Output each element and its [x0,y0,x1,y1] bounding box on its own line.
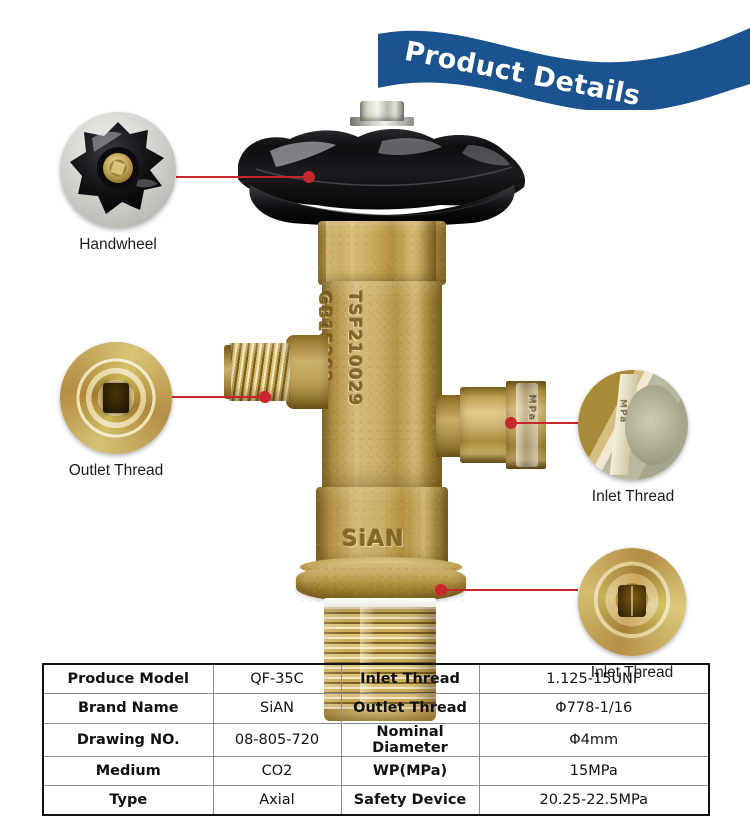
spec-value-medium: CO2 [213,756,341,786]
inlet-fitting-pressure-mark: MPa [520,395,536,455]
outlet-thread-stem [228,343,290,401]
spec-key-medium: Medium [43,756,213,786]
leader-line-inlet-thread-top [510,422,578,424]
spec-value-nominal-diameter: Φ4mm [479,723,709,756]
table-row: Produce Model QF-35C Inlet Thread 1.125-… [43,664,709,694]
spec-value-safety-device: 20.25-22.5MPa [479,786,709,816]
table-row: Medium CO2 WP(MPa) 15MPa [43,756,709,786]
table-row: Drawing NO. 08-805-720 Nominal Diameter … [43,723,709,756]
spec-value-produce-model: QF-35C [213,664,341,694]
leader-line-inlet-thread-bottom [440,589,578,591]
callout-outlet-thread: Outlet Thread [60,342,172,480]
spec-value-wp-mpa: 15MPa [479,756,709,786]
spec-key-wp-mpa: WP(MPa) [341,756,479,786]
spec-value-brand-name: SiAN [213,694,341,724]
outlet-thread-photo-icon [60,342,172,454]
callout-inlet-thread-bottom: Inlet Thread [578,548,686,682]
emboss-brand-logo: SiAN [342,527,405,552]
spec-key-produce-model: Produce Model [43,664,213,694]
leader-line-outlet-thread [172,396,264,398]
leader-dot-handwheel [303,171,315,183]
leader-dot-inlet-thread-top [505,417,517,429]
spec-value-drawing-no: 08-805-720 [213,723,341,756]
spec-value-type: Axial [213,786,341,816]
handwheel-top-view-shape [66,118,170,222]
spec-key-safety-device: Safety Device [341,786,479,816]
spec-key-type: Type [43,786,213,816]
table-row: Type Axial Safety Device 20.25-22.5MPa [43,786,709,816]
callout-handwheel: Handwheel [60,112,176,254]
spec-key-nominal-diameter: Nominal Diameter [341,723,479,756]
leader-dot-inlet-thread-bottom [435,584,447,596]
inlet-thread-hex-photo-icon: MPa [578,370,688,480]
spec-value-inlet-thread: 1.125-15UNF [479,664,709,694]
callout-inlet-thread-top: MPa Inlet Thread [578,370,688,506]
spec-key-drawing-no: Drawing NO. [43,723,213,756]
spec-key-inlet-thread: Inlet Thread [341,664,479,694]
valve-body-main [322,281,442,491]
spec-key-outlet-thread: Outlet Thread [341,694,479,724]
callout-label-outlet-thread: Outlet Thread [60,462,172,480]
inlet-photo-pressure-mark: MPa [618,399,628,423]
base-flange-collar [296,563,466,603]
specification-table: Produce Model QF-35C Inlet Thread 1.125-… [42,663,710,816]
table-row: Brand Name SiAN Outlet Thread Φ778-1/16 [43,694,709,724]
callout-label-handwheel: Handwheel [60,236,176,254]
emboss-serial-code: TSF210029 [344,291,364,406]
product-photo-composite: GB15382 TSF210029 MPa SiAN [200,95,550,665]
outlet-branch-neck [286,335,328,409]
spec-key-brand-name: Brand Name [43,694,213,724]
inlet-thread-flange-photo-icon [578,548,686,656]
valve-hex-nut [318,221,446,285]
inlet-hex-nut-inner [460,387,512,463]
leader-line-handwheel [176,176,308,178]
leader-dot-outlet-thread [259,391,271,403]
spec-value-outlet-thread: Φ778-1/16 [479,694,709,724]
callout-label-inlet-thread-top: Inlet Thread [578,488,688,506]
handwheel-part [232,123,532,223]
valve-stem-nut [360,101,404,121]
handwheel-photo-icon [60,112,176,228]
outlet-thread-tip [224,345,231,399]
